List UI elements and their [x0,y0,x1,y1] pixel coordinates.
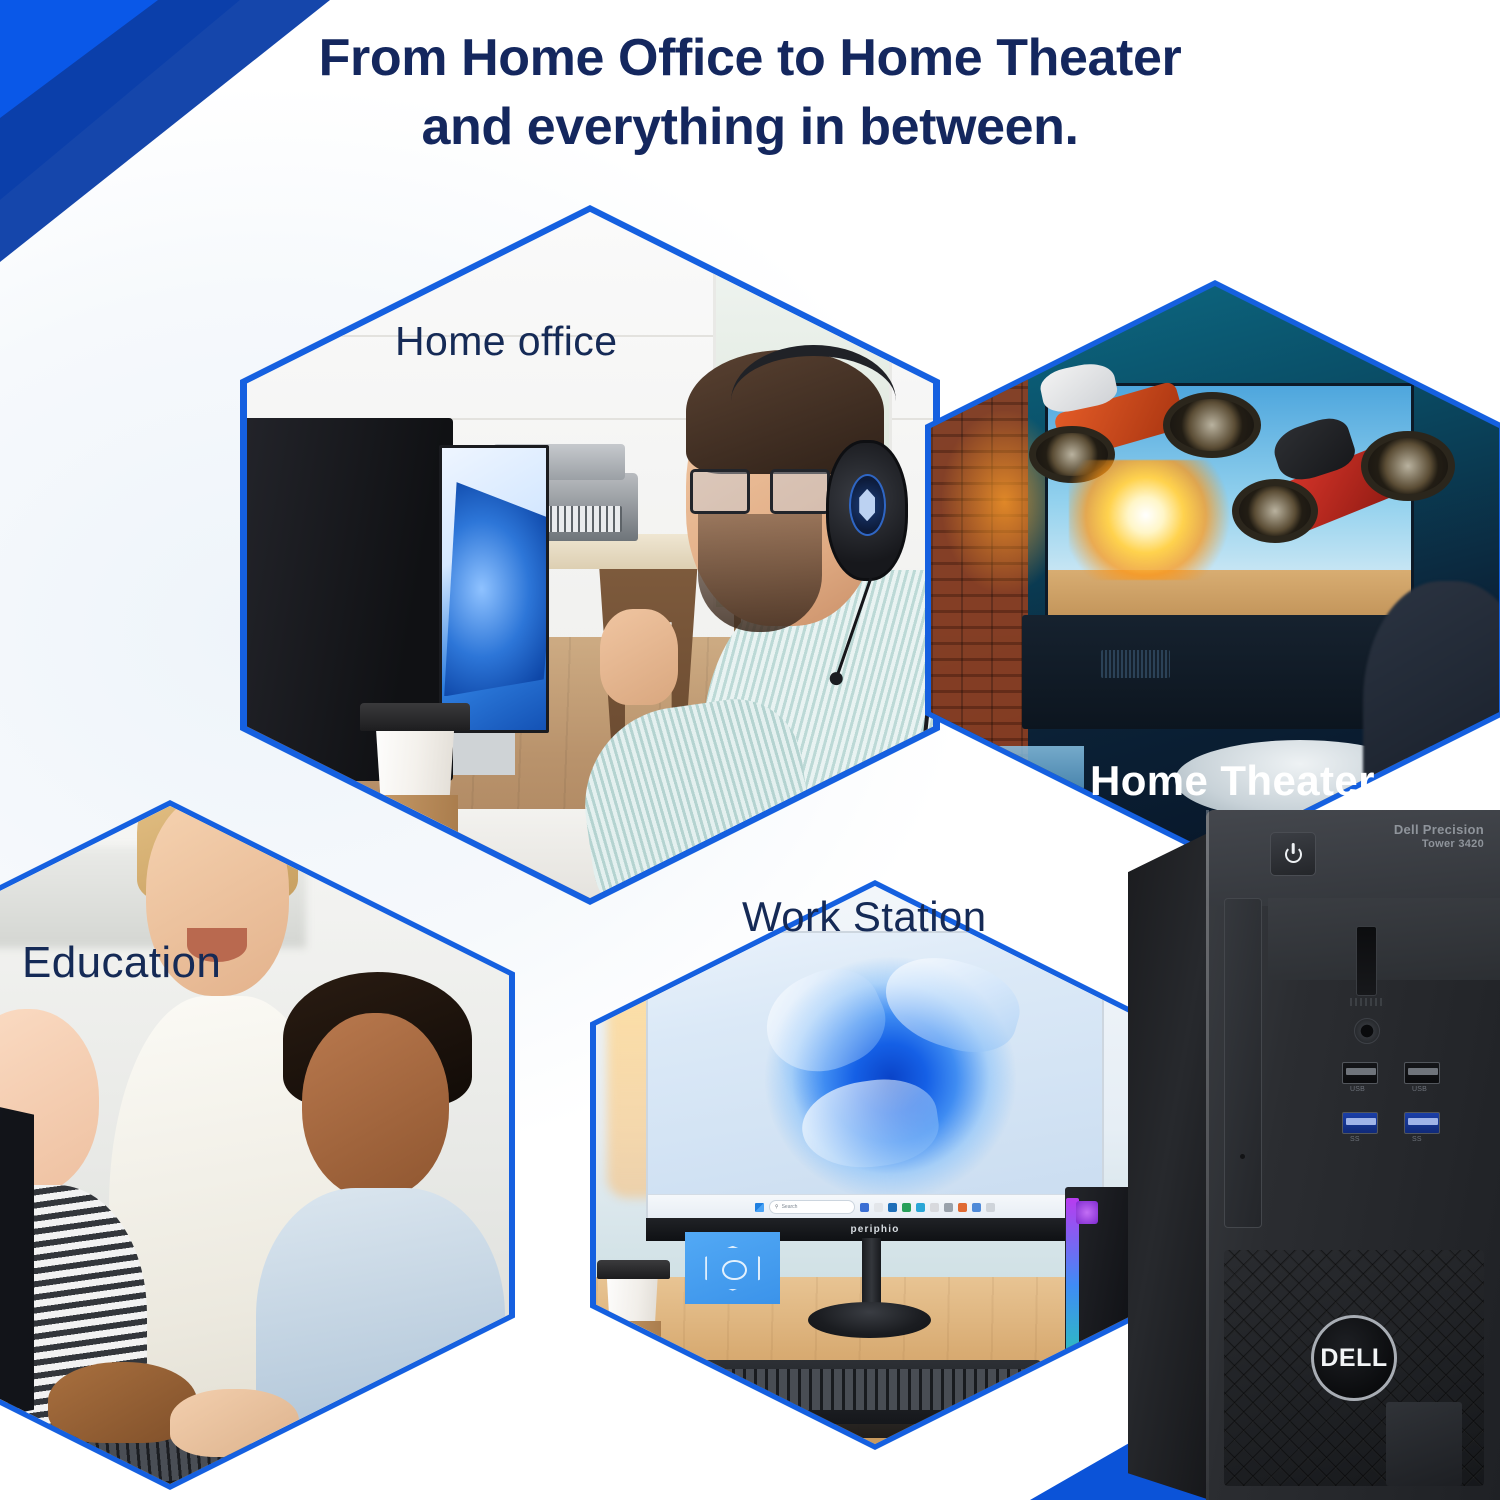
usb-3-port-right[interactable] [1404,1112,1440,1134]
usb-2-port-left-label: USB [1350,1086,1365,1093]
headphone-jack[interactable] [1354,1018,1380,1044]
viewer-silhouette [1363,581,1499,842]
teacher-hand [170,1389,299,1457]
speaker-grille [1101,650,1169,678]
taskbar-icon-explorer[interactable] [860,1203,869,1212]
tower-edge-highlight [1206,810,1209,1500]
tower-logo-icon [1076,1201,1098,1223]
coffee-cup-lid [360,703,470,732]
mouse [1087,1366,1132,1411]
usb-2-port-right-label: USB [1412,1086,1427,1093]
hexagon-panel-education[interactable] [0,806,509,1484]
student-boy-head [302,1013,450,1198]
usb-2-port-left[interactable] [1342,1062,1378,1084]
monitor-stand-neck [862,1238,881,1311]
sd-card-slot[interactable] [1356,926,1377,996]
usb-3-port-right-label: SS [1412,1136,1422,1143]
monitor-stand-base [808,1302,931,1338]
headset-logo-icon [849,474,886,536]
tower-model-line-1: Dell Precision [1394,822,1484,838]
taskbar-icon-files[interactable] [874,1203,883,1212]
coffee-cup-sleeve [374,795,458,850]
taskbar-icon-widgets[interactable] [944,1203,953,1212]
dirt-bike-wheel-front [1163,392,1261,458]
person-hand [670,857,777,898]
panel-label-home-office: Home office [395,318,617,365]
usb-3-port-left[interactable] [1342,1112,1378,1134]
person-beard [698,514,821,632]
taskbar-search-box[interactable]: ⚲ Search [769,1200,855,1214]
usb-2-port-right[interactable] [1404,1062,1440,1084]
headline-line-1: From Home Office to Home Theater [0,24,1500,93]
eyeglasses [690,469,830,514]
classroom-monitor [0,1064,34,1457]
power-button[interactable] [1270,832,1316,876]
coffee-cup-lid [597,1260,670,1279]
dell-precision-tower[interactable]: Dell Precision Tower 3420 USB USB SS SS [1128,810,1500,1500]
power-icon [1285,846,1302,863]
tower-model-line-2: Tower 3420 [1394,838,1484,852]
person-home-office [563,356,933,898]
atv-quad [1247,425,1443,565]
banner-stage: From Home Office to Home Theater and eve… [0,0,1500,1500]
panel-label-education: Education [22,938,221,988]
dell-logo-text: DELL [1320,1344,1387,1373]
taskbar-icon-settings[interactable] [930,1203,939,1212]
taskbar-icon-store[interactable] [902,1203,911,1212]
student-boy [265,982,496,1484]
usb-3-port-left-label: SS [1350,1136,1360,1143]
periphio-hexagon-logo-icon [705,1246,760,1291]
panel-label-work-station: Work Station [742,893,986,941]
dell-logo: DELL [1311,1315,1397,1401]
headline-line-2: and everything in between. [0,93,1500,162]
windows-taskbar[interactable]: ⚲ Search [648,1194,1102,1218]
windows-start-icon[interactable] [755,1203,764,1212]
monitor-brand-label: periphio [850,1224,899,1235]
sticky-note [685,1232,780,1305]
taskbar-icon-mail[interactable] [972,1203,981,1212]
taskbar-icon-office[interactable] [958,1203,967,1212]
taskbar-icon-edge[interactable] [888,1203,897,1212]
tower-lower-flat-panel [1386,1402,1462,1486]
sd-card-slot-label [1350,998,1384,1006]
headline: From Home Office to Home Theater and eve… [0,24,1500,162]
monitor-screen [439,445,549,733]
taskbar-icon-teams[interactable] [916,1203,925,1212]
person-fist [600,609,678,705]
atv-wheel-front [1232,479,1318,543]
television-screen [1045,383,1414,639]
panel-label-home-theater: Home Theater [1090,757,1375,805]
tower-rgb-strip [1066,1198,1078,1388]
optical-drive-bay[interactable] [1224,898,1262,1228]
monitor-display: ⚲ Search [646,931,1104,1221]
tower-upper-panel [1268,898,1500,980]
popcorn [965,774,1067,808]
taskbar-search-placeholder: Search [782,1204,798,1210]
atv-wheel-rear [1361,431,1455,501]
hexagon-panel-work-station[interactable]: ⚲ Search periphio [596,886,1154,1444]
taskbar-icon-misc[interactable] [986,1203,995,1212]
monitor-stand [453,733,515,774]
tower-side-panel [1128,832,1210,1500]
drive-eject-pinhole [1240,1154,1245,1159]
explosion-burst [1069,460,1236,580]
hexagon-panel-home-office[interactable] [247,212,933,898]
tower-model-label: Dell Precision Tower 3420 [1394,822,1484,852]
